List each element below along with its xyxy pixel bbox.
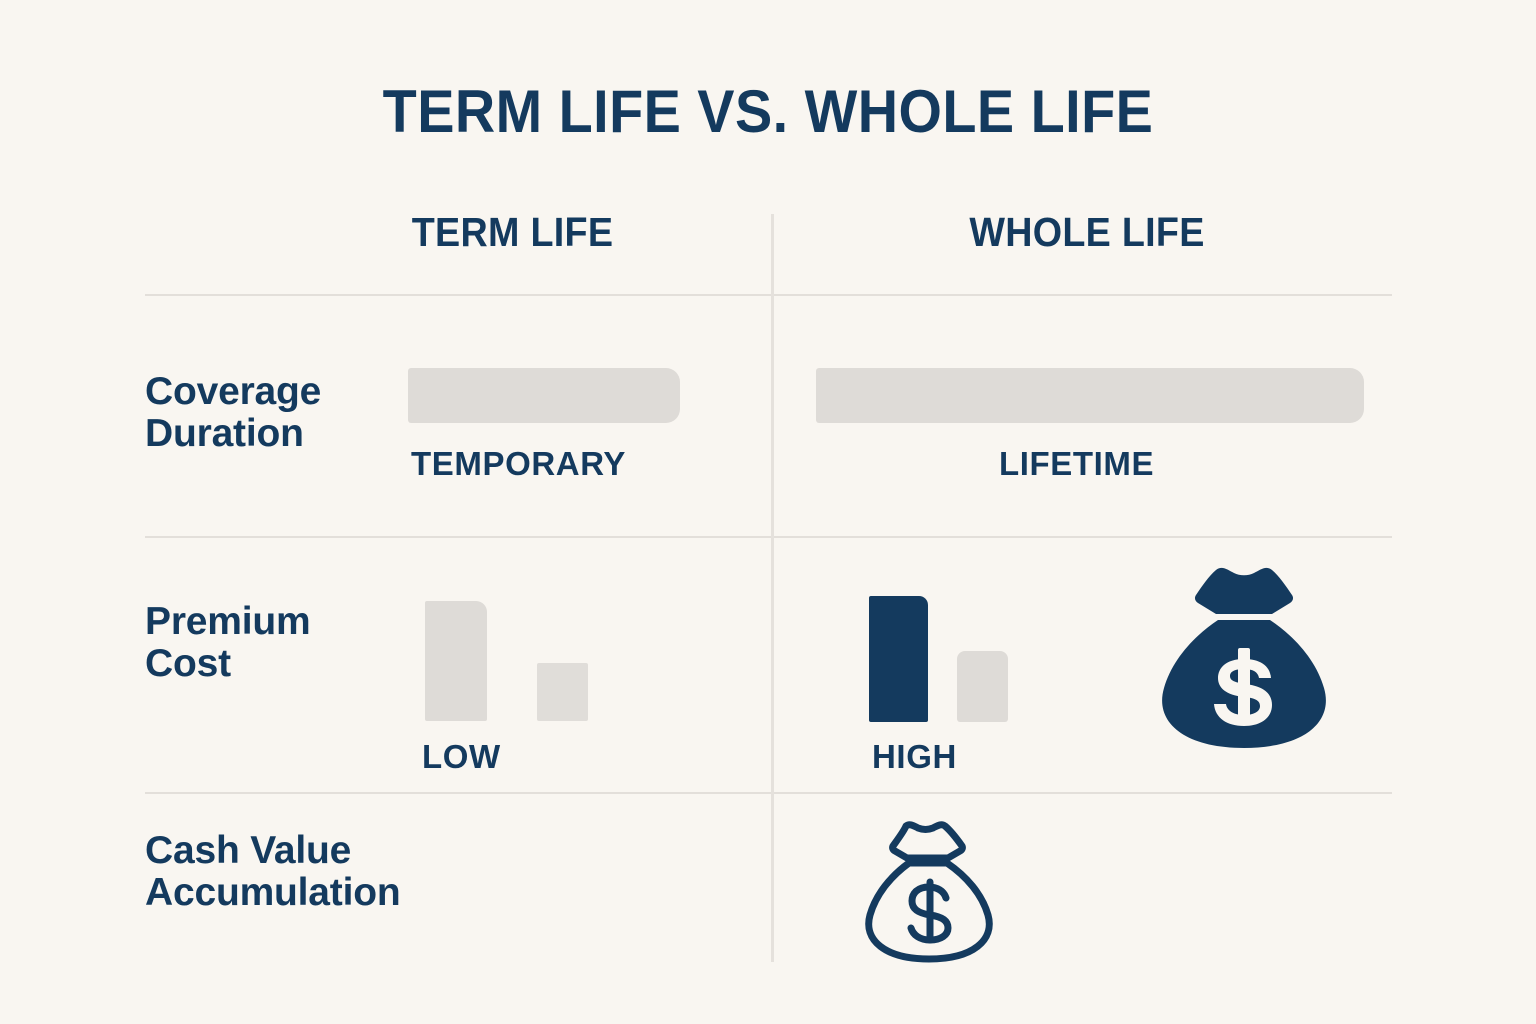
premium-cost-bar-term-primary bbox=[425, 601, 487, 721]
column-header-term-life: TERM LIFE bbox=[280, 212, 745, 253]
coverage-duration-caption-term: TEMPORARY bbox=[411, 447, 626, 480]
coverage-duration-caption-whole: LIFETIME bbox=[999, 447, 1154, 480]
row-label-premium-cost: Premium Cost bbox=[145, 601, 435, 685]
row-label-cash-value-accumulation: Cash Value Accumulation bbox=[145, 830, 435, 914]
coverage-duration-bar-whole bbox=[816, 368, 1364, 423]
row-label-line-2: Cost bbox=[145, 642, 231, 685]
divider-column-vertical bbox=[771, 214, 774, 962]
page-title: TERM LIFE VS. WHOLE LIFE bbox=[54, 82, 1482, 142]
divider-row-2 bbox=[145, 536, 1392, 538]
row-label-line-1: Cash Value bbox=[145, 829, 351, 872]
coverage-duration-bar-term bbox=[408, 368, 680, 423]
row-label-line-2: Duration bbox=[145, 412, 304, 455]
premium-cost-caption-term: LOW bbox=[422, 740, 501, 773]
premium-cost-bar-whole-secondary bbox=[957, 651, 1008, 722]
money-bag-filled-icon bbox=[1158, 564, 1330, 752]
premium-cost-caption-whole: HIGH bbox=[872, 740, 957, 773]
divider-row-3 bbox=[145, 792, 1392, 794]
divider-row-1 bbox=[145, 294, 1392, 296]
column-header-whole-life: WHOLE LIFE bbox=[806, 212, 1367, 253]
row-label-coverage-duration: Coverage Duration bbox=[145, 371, 435, 455]
row-label-line-2: Accumulation bbox=[145, 871, 400, 914]
row-label-line-1: Coverage bbox=[145, 370, 321, 413]
row-label-line-1: Premium bbox=[145, 600, 311, 643]
infographic-canvas: TERM LIFE VS. WHOLE LIFE TERM LIFE WHOLE… bbox=[0, 0, 1536, 1024]
money-bag-outline-icon bbox=[862, 818, 998, 964]
premium-cost-bar-term-secondary bbox=[537, 663, 588, 721]
premium-cost-bar-whole-primary bbox=[869, 596, 928, 722]
